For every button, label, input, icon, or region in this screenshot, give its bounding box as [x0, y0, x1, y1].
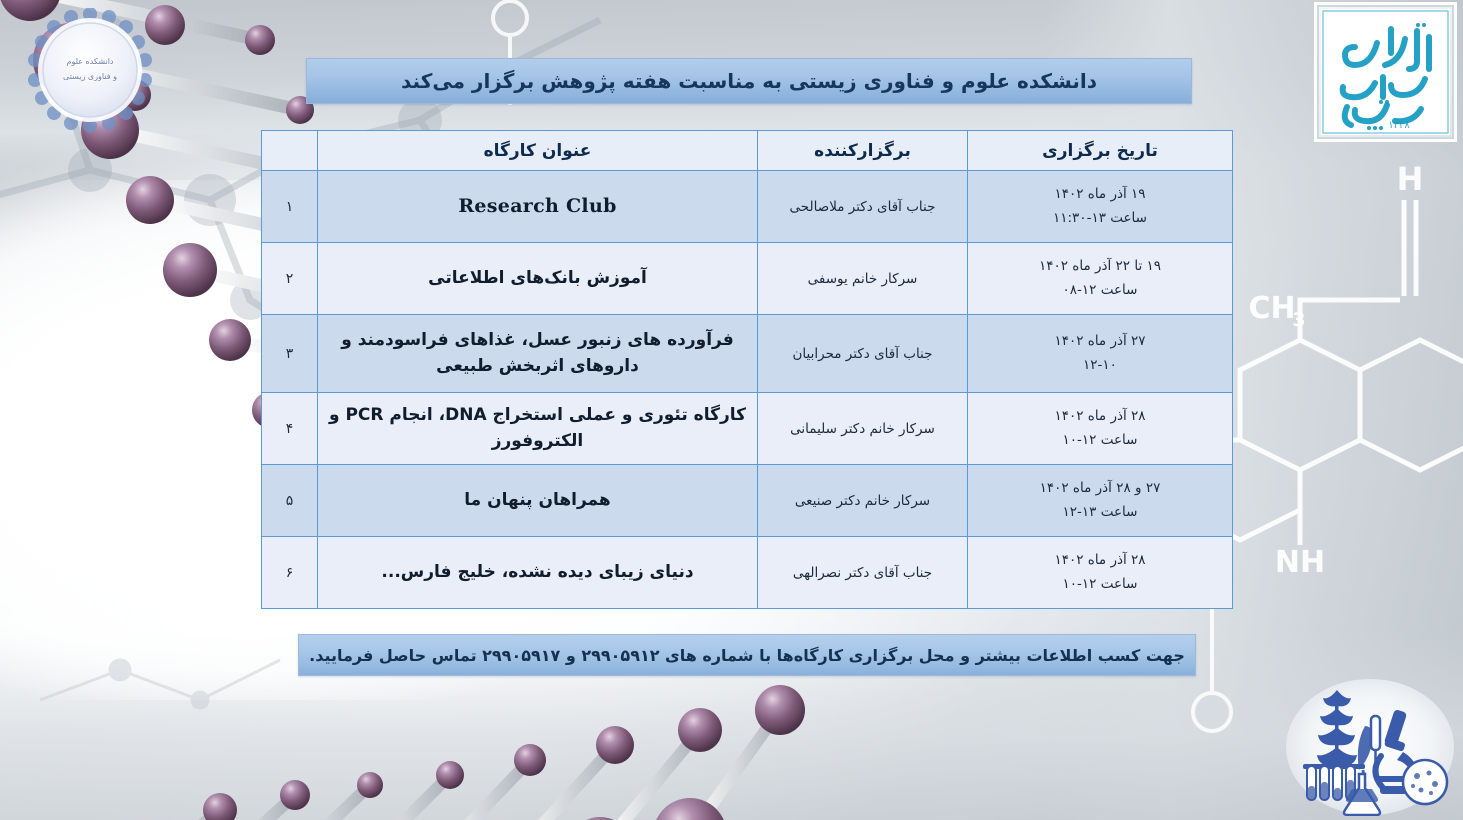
poster-canvas: CH 3 H NH [0, 0, 1463, 820]
faculty-seal: دانشکده علوم و فناوری زیستی [12, 8, 168, 140]
faculty-seal-line1: دانشکده علوم [12, 54, 168, 69]
university-logo-year: ۱۳۳۸ [1388, 120, 1410, 131]
date-line-1: ۱۹ تا ۲۲ آذر ماه ۱۴۰۲ [976, 255, 1224, 279]
cell-title: همراهان پنهان ما [318, 465, 758, 537]
cell-date: ۲۷ آذر ماه ۱۴۰۲ ۱۲-۱۰ [968, 315, 1233, 393]
lab-illustration-graphic [1285, 678, 1455, 816]
date-line-2: ۱۲-۱۰ [976, 354, 1224, 378]
table-row: ۱۹ تا ۲۲ آذر ماه ۱۴۰۲ ساعت ۱۲-۰۸ سرکار خ… [262, 243, 1233, 315]
date-line-1: ۲۷ و ۲۸ آذر ماه ۱۴۰۲ [976, 477, 1224, 501]
faculty-seal-label: دانشکده علوم و فناوری زیستی [12, 54, 168, 84]
workshops-table: تاریخ برگزاری برگزارکننده عنوان کارگاه ۱… [261, 130, 1233, 609]
table-header: تاریخ برگزاری برگزارکننده عنوان کارگاه [262, 131, 1233, 171]
cell-host: سرکار خانم دکتر صنیعی [758, 465, 968, 537]
cell-number: ۶ [262, 537, 318, 609]
cell-host: جناب آقای دکتر محرابیان [758, 315, 968, 393]
header-banner: دانشکده علوم و فناوری زیستی به مناسبت هف… [306, 58, 1192, 104]
cell-title: کارگاه تئوری و عملی استخراج DNA، انجام P… [318, 393, 758, 465]
workshops-table-wrapper: تاریخ برگزاری برگزارکننده عنوان کارگاه ۱… [262, 130, 1233, 609]
university-logo-inner: ۱۳۳۸ [1321, 9, 1450, 135]
column-header-title: عنوان کارگاه [318, 131, 758, 171]
cell-title: آموزش بانک‌های اطلاعاتی [318, 243, 758, 315]
table-row: ۲۷ آذر ماه ۱۴۰۲ ۱۲-۱۰ جناب آقای دکتر محر… [262, 315, 1233, 393]
cell-number: ۱ [262, 171, 318, 243]
table-row: ۲۸ آذر ماه ۱۴۰۲ ساعت ۱۲-۱۰ جناب آقای دکت… [262, 537, 1233, 609]
date-line-1: ۲۸ آذر ماه ۱۴۰۲ [976, 405, 1224, 429]
table-row: ۲۸ آذر ماه ۱۴۰۲ ساعت ۱۲-۱۰ سرکار خانم دک… [262, 393, 1233, 465]
cell-host: سرکار خانم یوسفی [758, 243, 968, 315]
cell-date: ۱۹ آذر ماه ۱۴۰۲ ساعت ۱۳-۱۱:۳۰ [968, 171, 1233, 243]
cell-host: جناب آقای دکتر ملاصالحی [758, 171, 968, 243]
table-row: ۱۹ آذر ماه ۱۴۰۲ ساعت ۱۳-۱۱:۳۰ جناب آقای … [262, 171, 1233, 243]
cell-date: ۲۷ و ۲۸ آذر ماه ۱۴۰۲ ساعت ۱۳-۱۲ [968, 465, 1233, 537]
date-line-2: ساعت ۱۲-۱۰ [976, 573, 1224, 597]
cell-number: ۲ [262, 243, 318, 315]
cell-date: ۱۹ تا ۲۲ آذر ماه ۱۴۰۲ ساعت ۱۲-۰۸ [968, 243, 1233, 315]
table-header-row: تاریخ برگزاری برگزارکننده عنوان کارگاه [262, 131, 1233, 171]
lab-science-illustration [1285, 678, 1455, 816]
cell-title: دنیای زیبای دیده نشده، خلیج فارس... [318, 537, 758, 609]
date-line-1: ۱۹ آذر ماه ۱۴۰۲ [976, 183, 1224, 207]
cell-host: جناب آقای دکتر نصرالهی [758, 537, 968, 609]
date-line-1: ۲۷ آذر ماه ۱۴۰۲ [976, 330, 1224, 354]
cell-number: ۳ [262, 315, 318, 393]
date-line-2: ساعت ۱۲-۰۸ [976, 279, 1224, 303]
date-line-2: ساعت ۱۲-۱۰ [976, 429, 1224, 453]
header-banner-title: دانشکده علوم و فناوری زیستی به مناسبت هف… [401, 69, 1097, 93]
date-line-2: ساعت ۱۳-۱۱:۳۰ [976, 207, 1224, 231]
cell-host: سرکار خانم دکتر سلیمانی [758, 393, 968, 465]
table-body: ۱۹ آذر ماه ۱۴۰۲ ساعت ۱۳-۱۱:۳۰ جناب آقای … [262, 171, 1233, 609]
cell-number: ۴ [262, 393, 318, 465]
footer-banner: جهت کسب اطلاعات بیشتر و محل برگزاری کارگ… [298, 634, 1196, 676]
shahid-beheshti-university-logo: ۱۳۳۸ [1314, 2, 1457, 142]
cell-number: ۵ [262, 465, 318, 537]
table-row: ۲۷ و ۲۸ آذر ماه ۱۴۰۲ ساعت ۱۳-۱۲ سرکار خا… [262, 465, 1233, 537]
date-line-1: ۲۸ آذر ماه ۱۴۰۲ [976, 549, 1224, 573]
cell-title: Research Club [318, 171, 758, 243]
footer-banner-text: جهت کسب اطلاعات بیشتر و محل برگزاری کارگ… [309, 646, 1185, 665]
cell-date: ۲۸ آذر ماه ۱۴۰۲ ساعت ۱۲-۱۰ [968, 393, 1233, 465]
column-header-date: تاریخ برگزاری [968, 131, 1233, 171]
column-header-num [262, 131, 318, 171]
faculty-seal-line2: و فناوری زیستی [12, 69, 168, 84]
university-logo-calligraphy: ۱۳۳۸ [1321, 9, 1450, 135]
column-header-host: برگزارکننده [758, 131, 968, 171]
cell-title: فرآورده های زنبور عسل، غذاهای فراسودمند … [318, 315, 758, 393]
date-line-2: ساعت ۱۳-۱۲ [976, 501, 1224, 525]
cell-date: ۲۸ آذر ماه ۱۴۰۲ ساعت ۱۲-۱۰ [968, 537, 1233, 609]
